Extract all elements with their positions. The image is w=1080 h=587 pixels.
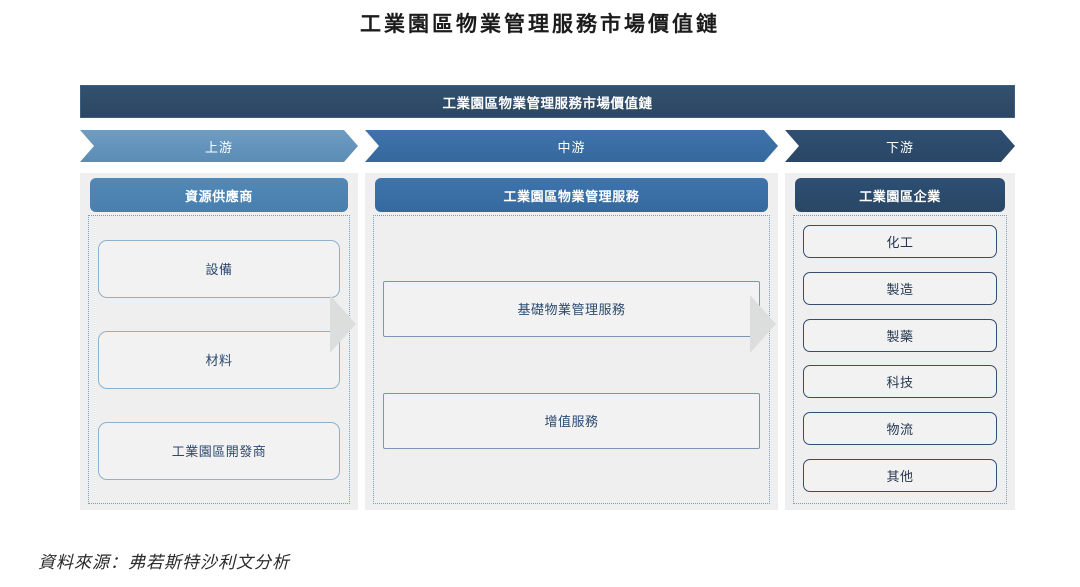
column-downstream: 工業園區企業 化工 製造 製藥 科技 物流 其他 [785, 173, 1015, 510]
column-downstream-header-label: 工業園區企業 [859, 186, 941, 205]
item-label: 科技 [886, 372, 913, 391]
item-label: 設備 [205, 259, 232, 278]
stage-chevron-upstream[interactable]: 上游 [80, 130, 358, 162]
item-label: 化工 [886, 232, 913, 251]
source-note: 資料來源：弗若斯特沙利文分析 [38, 548, 290, 573]
diagram-banner: 工業園區物業管理服務市場價值鏈 [80, 85, 1015, 118]
column-upstream-header-label: 資源供應商 [185, 186, 253, 205]
column-midstream-items: 基礎物業管理服務 增值服務 [383, 223, 760, 496]
item-box[interactable]: 基礎物業管理服務 [383, 281, 760, 337]
item-box[interactable]: 增值服務 [383, 393, 760, 449]
stage-chevron-downstream-label: 下游 [886, 137, 914, 156]
item-label: 物流 [886, 419, 913, 438]
item-box[interactable]: 科技 [803, 365, 997, 398]
value-chain-diagram: 工業園區物業管理服務市場價值鏈 上游 中游 下游 資源供應商 設備 材料 工業園… [80, 85, 1015, 510]
stage-chevron-midstream-label: 中游 [557, 137, 585, 156]
stage-chevron-downstream[interactable]: 下游 [785, 130, 1015, 162]
item-box[interactable]: 材料 [98, 331, 340, 389]
stage-chevron-midstream[interactable]: 中游 [365, 130, 778, 162]
item-label: 增值服務 [544, 411, 598, 430]
item-label: 其他 [886, 466, 913, 485]
diagram-banner-title: 工業園區物業管理服務市場價值鏈 [443, 92, 653, 112]
item-label: 製藥 [886, 326, 913, 345]
column-midstream: 工業園區物業管理服務 基礎物業管理服務 增值服務 [365, 173, 778, 510]
column-midstream-header-label: 工業園區物業管理服務 [503, 186, 639, 205]
stage-chevron-strip: 上游 中游 下游 [80, 130, 1015, 162]
item-box[interactable]: 製造 [803, 272, 997, 305]
item-label: 製造 [886, 279, 913, 298]
column-downstream-items: 化工 製造 製藥 科技 物流 其他 [803, 223, 997, 496]
column-upstream: 資源供應商 設備 材料 工業園區開發商 [80, 173, 358, 510]
stage-chevron-upstream-label: 上游 [205, 137, 233, 156]
item-box[interactable]: 製藥 [803, 319, 997, 352]
page-title: 工業園區物業管理服務市場價值鏈 [0, 8, 1080, 38]
item-label: 材料 [205, 350, 232, 369]
item-box[interactable]: 化工 [803, 225, 997, 258]
item-label: 基礎物業管理服務 [517, 299, 625, 318]
column-midstream-header: 工業園區物業管理服務 [375, 178, 768, 212]
column-upstream-items: 設備 材料 工業園區開發商 [98, 223, 340, 496]
column-downstream-header: 工業園區企業 [795, 178, 1005, 212]
item-box[interactable]: 其他 [803, 459, 997, 492]
column-upstream-header: 資源供應商 [90, 178, 348, 212]
item-label: 工業園區開發商 [172, 441, 267, 460]
item-box[interactable]: 設備 [98, 240, 340, 298]
item-box[interactable]: 工業園區開發商 [98, 422, 340, 480]
item-box[interactable]: 物流 [803, 412, 997, 445]
